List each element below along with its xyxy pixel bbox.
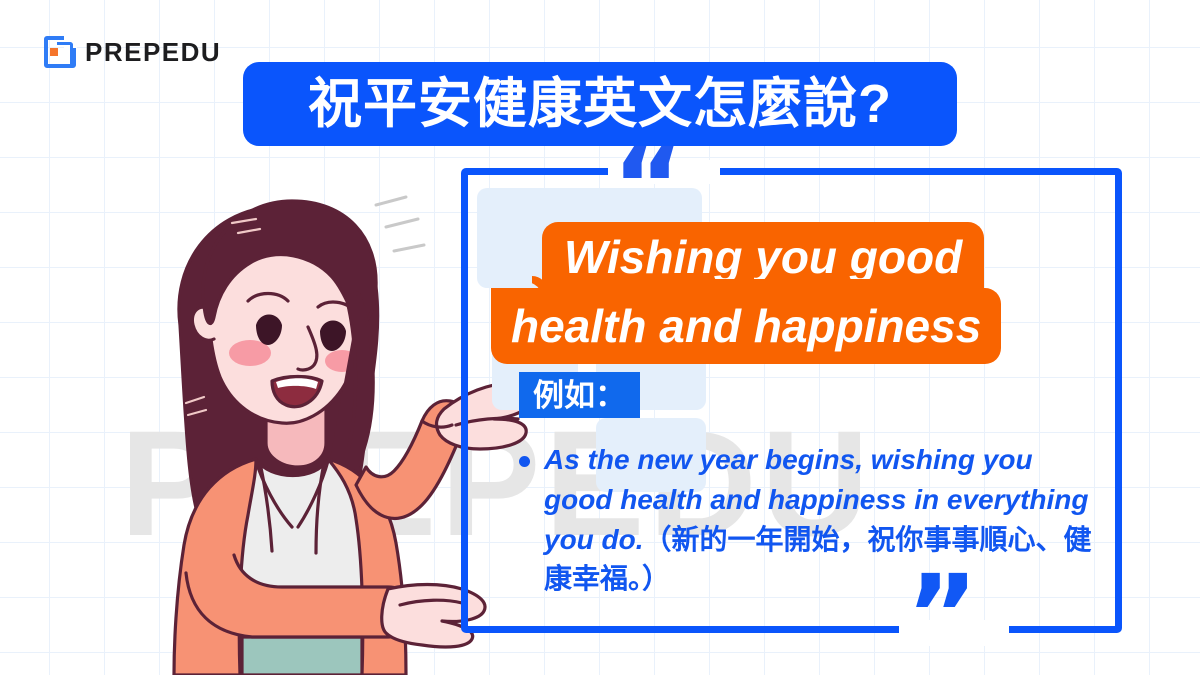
quote-line-1: Wishing you good: [542, 222, 984, 292]
brand-logo: PREPEDU: [44, 36, 221, 68]
quote-line-2: health and happiness: [491, 288, 1001, 364]
example-label: 例如：: [519, 372, 640, 418]
brand-name: PREPEDU: [85, 37, 221, 68]
poster-canvas: PREPEDU: [0, 0, 1200, 675]
bullet-dot-icon: [519, 456, 530, 467]
page-title: 祝平安健康英文怎麼說?: [243, 62, 957, 146]
example-sentence: As the new year begins, wishing you good…: [544, 440, 1105, 599]
example-list-item: As the new year begins, wishing you good…: [519, 440, 1105, 599]
prepedu-logo-icon: [44, 36, 76, 68]
page-title-text: 祝平安健康英文怎麼說?: [308, 77, 892, 131]
